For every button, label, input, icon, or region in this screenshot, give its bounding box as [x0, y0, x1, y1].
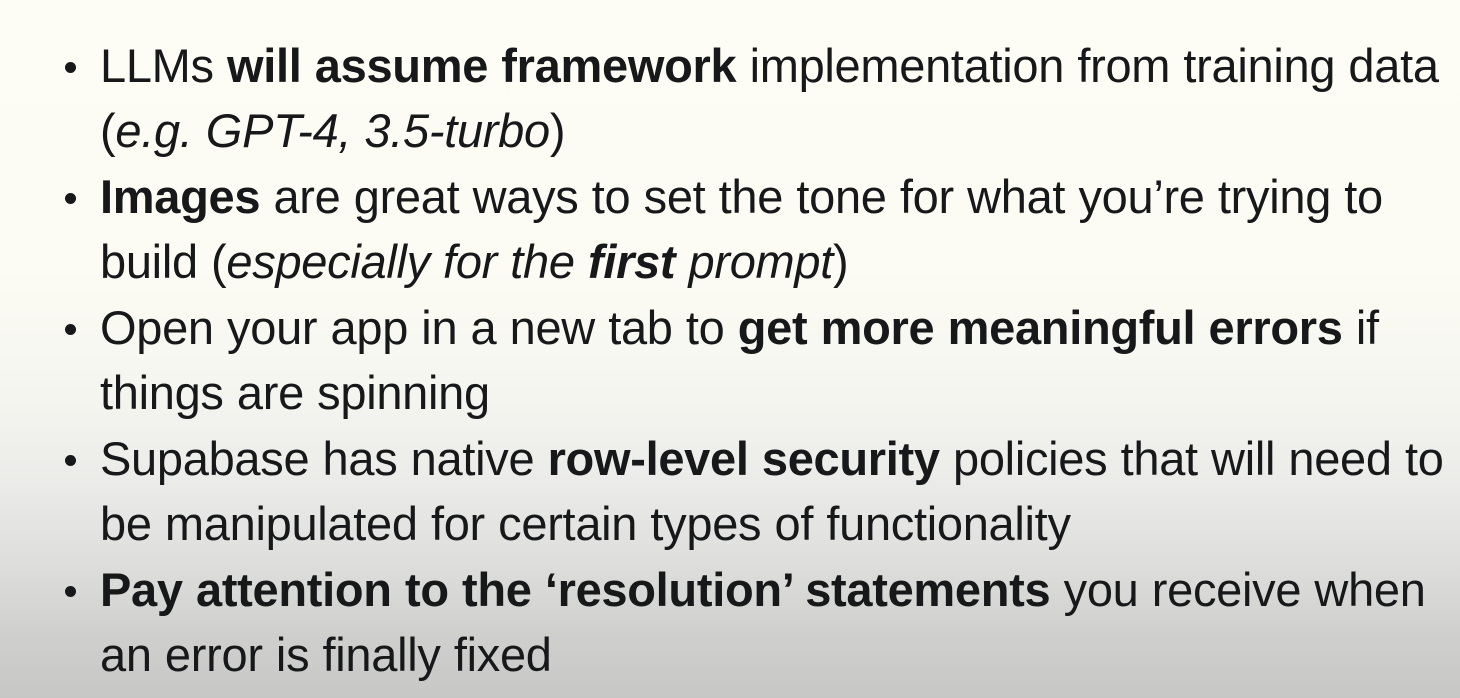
bullet-text: Supabase has native row-level security p…	[100, 426, 1452, 556]
bullet-supabase-row-level-security: Supabase has native row-level security p…	[62, 426, 1452, 556]
bullet-dot-icon	[65, 164, 78, 229]
text-run-normal: Open your app in a new tab to	[100, 301, 738, 354]
text-run-italic: e.g. GPT-4, 3.5-turbo	[115, 104, 549, 157]
text-run-bold: Pay attention to the ‘resolution’ statem…	[100, 563, 1050, 616]
text-run-normal: )	[550, 104, 565, 157]
bullet-dot-icon	[65, 426, 78, 491]
bullet-resolution-statements: Pay attention to the ‘resolution’ statem…	[62, 557, 1452, 687]
bullet-text: Images are great ways to set the tone fo…	[100, 164, 1452, 294]
bullet-text: Pay attention to the ‘resolution’ statem…	[100, 557, 1452, 687]
text-run-normal: LLMs	[100, 39, 227, 92]
text-run-bold-italic: first	[588, 235, 675, 288]
presentation-slide: LLMs will assume framework implementatio…	[0, 0, 1460, 698]
bullet-dot-icon	[65, 557, 78, 622]
bullet-llms-assume-framework: LLMs will assume framework implementatio…	[62, 33, 1452, 163]
text-run-normal: Supabase has native	[100, 432, 548, 485]
bullet-text: Open your app in a new tab to get more m…	[100, 295, 1452, 425]
text-run-italic: especially for the	[226, 235, 588, 288]
text-run-bold: will assume framework	[227, 39, 736, 92]
bullet-dot-icon	[65, 33, 78, 98]
bullet-dot-icon	[65, 295, 78, 360]
bullet-images-set-tone: Images are great ways to set the tone fo…	[62, 164, 1452, 294]
text-run-bold: get more meaningful errors	[738, 301, 1343, 354]
text-run-normal: )	[833, 235, 848, 288]
bullet-open-app-new-tab: Open your app in a new tab to get more m…	[62, 295, 1452, 425]
text-run-bold: row-level security	[548, 432, 940, 485]
text-run-italic: prompt	[675, 235, 833, 288]
text-run-bold: Images	[100, 170, 260, 223]
bullet-list: LLMs will assume framework implementatio…	[62, 33, 1452, 688]
bullet-text: LLMs will assume framework implementatio…	[100, 33, 1452, 163]
